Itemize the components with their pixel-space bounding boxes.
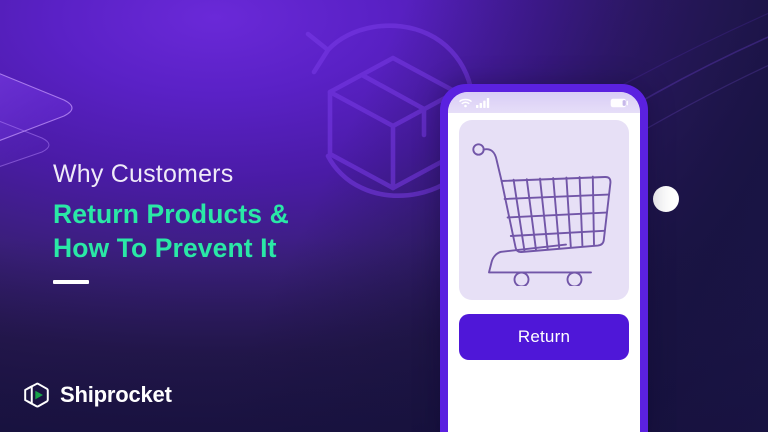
brand-logo[interactable]: Shiprocket <box>22 380 172 410</box>
shopping-cart-icon <box>471 134 621 286</box>
shiprocket-cube-play-icon <box>22 380 52 410</box>
phone-status-bar <box>448 92 640 113</box>
headline-underline-rule <box>53 280 89 284</box>
battery-icon <box>610 98 629 108</box>
phone-screen: Return <box>448 92 640 432</box>
headline-line-2: Return Products & <box>53 197 433 231</box>
signal-bars-icon <box>476 98 490 108</box>
return-button[interactable]: Return <box>459 314 629 360</box>
promo-banner: Why Customers Return Products & How To P… <box>0 0 768 432</box>
headline-line-1: Why Customers <box>53 160 433 190</box>
product-illustration-card <box>459 120 629 300</box>
wifi-icon <box>459 98 472 108</box>
phone-mockup: Return <box>440 84 648 432</box>
headline-line-3: How To Prevent It <box>53 231 433 265</box>
brand-name: Shiprocket <box>60 384 172 406</box>
headline-block: Why Customers Return Products & How To P… <box>53 160 433 284</box>
white-circle-decoration <box>653 186 679 212</box>
